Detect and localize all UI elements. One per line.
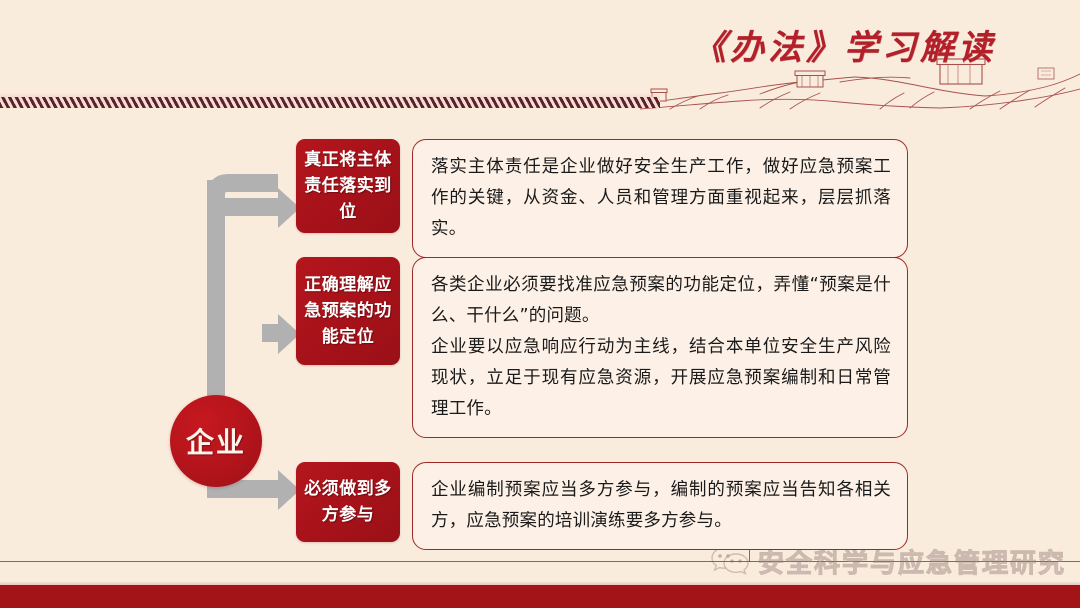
flow-diagram: 企业 真正将主体责任落实到位 落实主体责任是企业做好安全生产工作，做好应急预案工… (0, 110, 1080, 540)
slide-header: 《办法》学习解读 (0, 0, 1080, 110)
branch-chip-2[interactable]: 正确理解应急预案的功能定位 (296, 257, 400, 365)
branch-panel-3: 企业编制预案应当多方参与，编制的预案应当告知各相关方，应急预案的培训演练要多方参… (412, 462, 908, 550)
footer-bar (0, 585, 1080, 608)
branch-3-paragraph-1: 企业编制预案应当多方参与，编制的预案应当告知各相关方，应急预案的培训演练要多方参… (431, 475, 891, 537)
hub-node-enterprise[interactable]: 企业 (170, 395, 262, 487)
diagonal-hatch-band (0, 97, 660, 108)
branch-chip-3[interactable]: 必须做到多方参与 (296, 462, 400, 542)
branch-panel-2: 各类企业必须要找准应急预案的功能定位，弄懂“预案是什么、干什么”的问题。 企业要… (412, 257, 908, 438)
branch-2-paragraph-1: 各类企业必须要找准应急预案的功能定位，弄懂“预案是什么、干什么”的问题。 (431, 270, 891, 332)
slide-root: 《办法》学习解读 企业 (0, 0, 1080, 608)
page-title: 《办法》学习解读 (692, 20, 996, 69)
branch-panel-1: 落实主体责任是企业做好安全生产工作，做好应急预案工作的关键，从资金、人员和管理方… (412, 139, 908, 258)
hub-label: 企业 (186, 421, 246, 461)
branch-chip-1[interactable]: 真正将主体责任落实到位 (296, 139, 400, 233)
branch-1-paragraph-1: 落实主体责任是企业做好安全生产工作，做好应急预案工作的关键，从资金、人员和管理方… (431, 152, 891, 245)
branch-2-paragraph-2: 企业要以应急响应行动为主线，结合本单位安全生产风险现状，立足于现有应急资源，开展… (431, 332, 891, 425)
